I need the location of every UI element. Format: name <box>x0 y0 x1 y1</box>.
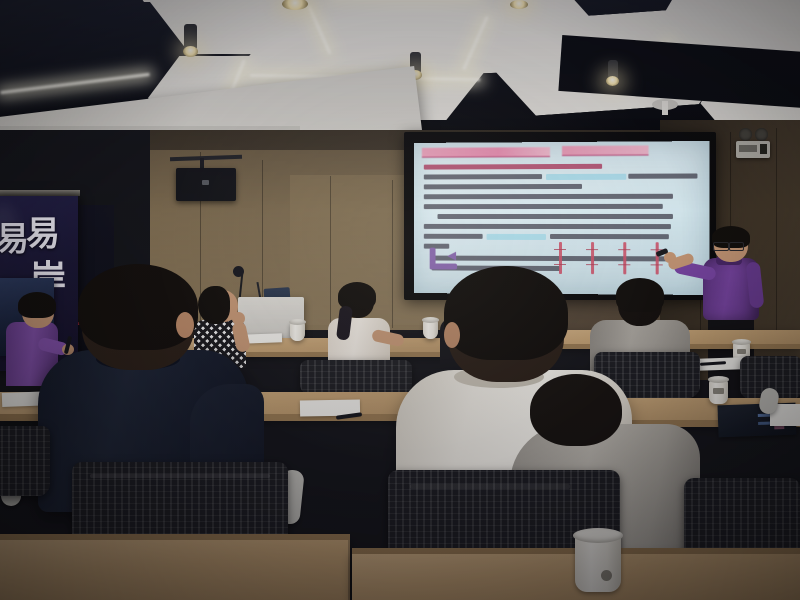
paper-cup-logo <box>601 570 612 581</box>
slide-diagram-figure <box>616 242 632 274</box>
white-ear <box>444 322 460 348</box>
slide-diagram-figure <box>649 242 665 274</box>
chair-mesh <box>0 426 50 496</box>
paper-cup-rim <box>573 528 623 543</box>
white-hair <box>444 266 568 360</box>
downlight <box>183 46 198 57</box>
glasses-icon-2 <box>729 242 744 251</box>
projection-screen[interactable] <box>414 141 710 295</box>
glasses-icon <box>713 242 729 251</box>
slide-title-highlight-2 <box>562 145 649 156</box>
banner-character-partial: 易 <box>0 212 29 260</box>
slide-text-line <box>437 214 672 219</box>
paper-cup-logo <box>737 349 746 354</box>
emergency-lamp-head-icon <box>739 128 752 141</box>
slide-diagram-figure <box>552 242 568 274</box>
speaker-badge <box>202 180 209 185</box>
table-row-front <box>0 538 350 600</box>
smoke-detector-stem <box>662 101 668 115</box>
banner-character: 易 <box>26 206 60 255</box>
slide-diagram-figure <box>584 242 600 274</box>
slide-text-line <box>424 234 483 239</box>
table-seam <box>348 540 350 600</box>
slide-text-line <box>424 224 671 229</box>
slide-title-highlight <box>422 147 550 158</box>
slide-text-line <box>424 194 673 199</box>
downlight <box>606 76 619 86</box>
table-edge <box>0 534 350 540</box>
slide-text-line <box>628 173 697 178</box>
paper-cup-rim <box>289 319 306 325</box>
slide-text-redaction <box>546 174 626 180</box>
downlight <box>510 0 528 9</box>
slide-text-line <box>424 174 542 179</box>
emergency-lamp-head-icon <box>755 128 768 141</box>
slide-text-line <box>424 164 602 170</box>
wall-seam <box>776 128 777 342</box>
slide-diagram-purple <box>428 246 461 272</box>
emergency-light-button <box>760 144 767 154</box>
chair-back-left-edge[interactable] <box>0 426 50 496</box>
slide-text-line <box>424 184 582 189</box>
seminar-room-photo: 易 易 岸 <box>0 0 800 600</box>
paper-cup-rim <box>732 339 751 345</box>
slide-text-line <box>550 234 669 239</box>
navy-hair <box>78 264 198 350</box>
emergency-light-label <box>739 145 757 152</box>
slide-text-line <box>424 204 663 209</box>
slide-text-redaction <box>487 234 546 240</box>
grey-front-head <box>530 374 622 446</box>
paper-cup-logo <box>713 388 724 394</box>
paper-cup-rim <box>708 376 729 383</box>
navy-ear <box>176 312 194 338</box>
